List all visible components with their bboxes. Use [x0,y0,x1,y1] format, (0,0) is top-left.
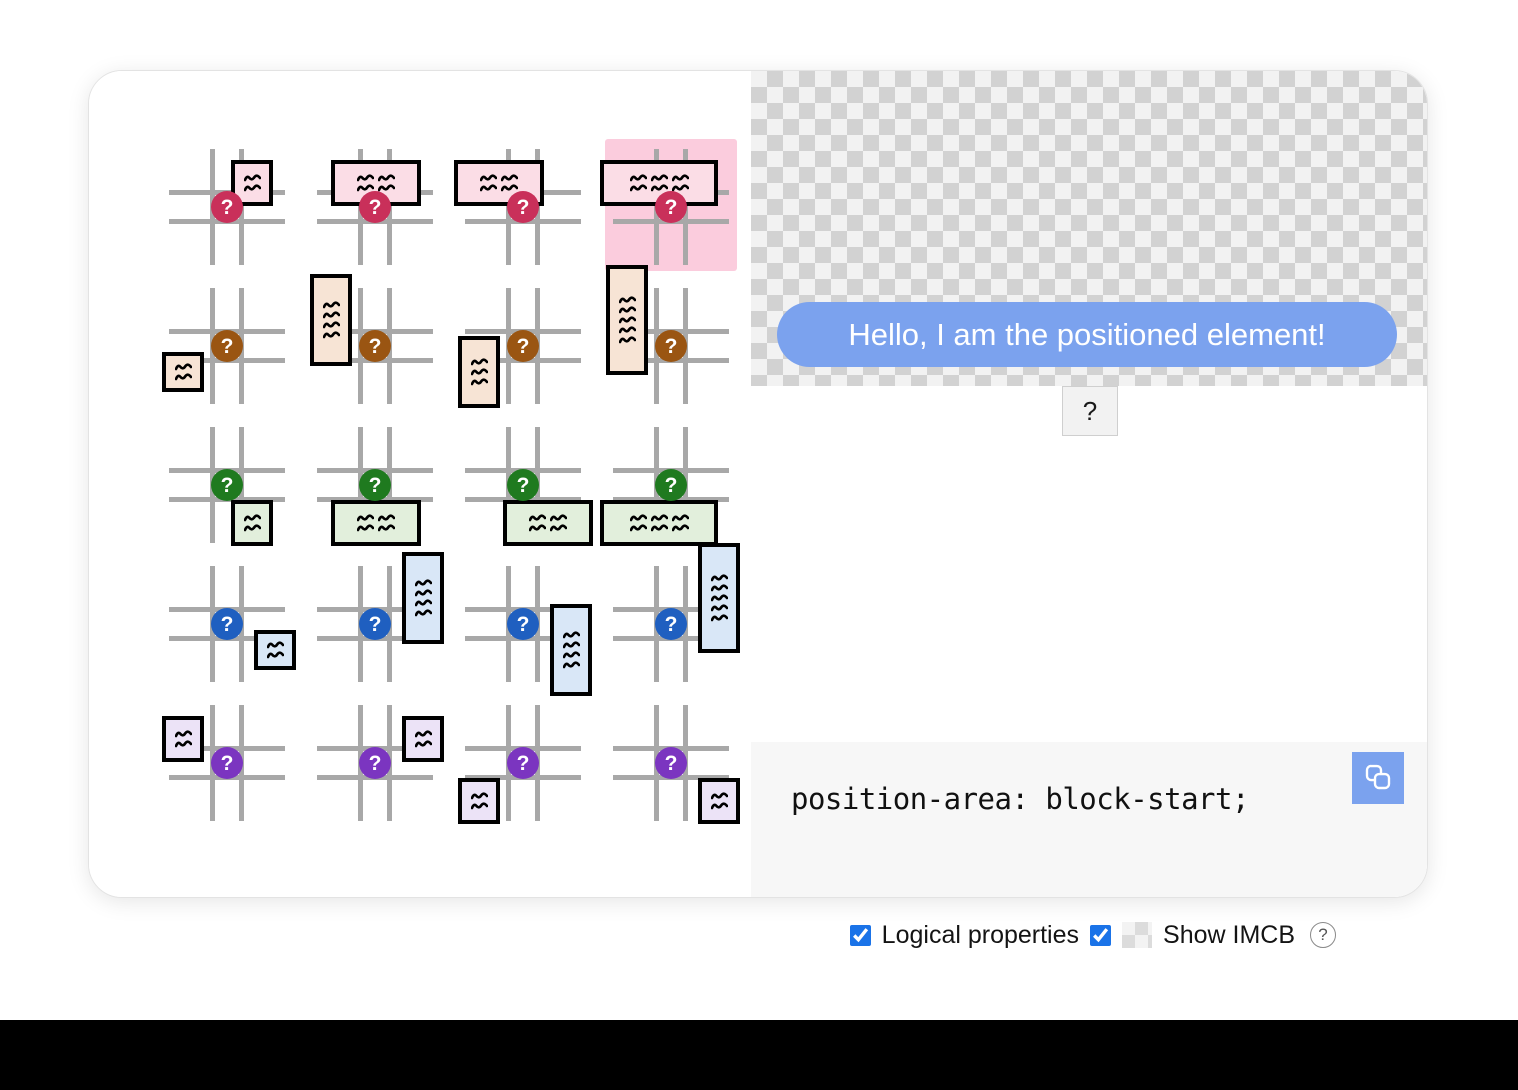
variant-cell-block-start-span-inline-start[interactable]: ? [457,139,589,271]
anchor-badge: ? [211,330,243,362]
positioned-box [503,500,593,546]
positioned-box [606,265,648,375]
squiggle-icon [415,609,432,618]
squiggle-row [630,514,689,523]
show-imcb-checkbox[interactable] [1090,925,1111,946]
squiggle-row [529,524,567,533]
squiggle-row [175,740,192,749]
squiggle-icon [415,589,432,598]
variant-cell-block-end-span-inline-start[interactable]: ? [457,417,589,549]
squiggle-row [480,184,518,193]
squiggle-icon [630,524,647,533]
squiggle-icon [378,514,395,523]
squiggle-row [471,792,488,801]
anchor-badge: ? [507,191,539,223]
variant-cell-block-start-span-all[interactable]: ? [309,139,441,271]
squiggle-row [711,614,728,623]
squiggle-row [175,363,192,372]
copy-button[interactable] [1352,752,1404,804]
squiggle-row [323,321,340,330]
variant-cell-block-end-span-all[interactable]: ? [309,417,441,549]
squiggle-icon [672,174,689,183]
squiggle-icon [471,792,488,801]
squiggle-icon [711,802,728,811]
squiggle-icon [630,184,647,193]
squiggle-icon [711,614,728,623]
positioned-box [600,500,718,546]
variant-cell-block-end-inline-start[interactable]: ? [457,695,589,827]
squiggle-icon [357,174,374,183]
squiggle-row [415,589,432,598]
variant-cell-inline-end[interactable]: ? [161,556,293,688]
anchor-badge: ? [507,608,539,640]
squiggle-row [630,184,689,193]
squiggle-icon [630,174,647,183]
squiggle-icon [529,514,546,523]
squiggle-icon [711,792,728,801]
help-icon[interactable]: ? [1310,922,1336,948]
squiggle-icon [529,524,546,533]
squiggle-icon [619,306,636,315]
positioned-box [162,716,204,762]
squiggle-icon [711,574,728,583]
page-bottom-strip [0,1020,1518,1090]
squiggle-icon [244,524,261,533]
footer-controls: Logical properties Show IMCB ? [0,922,1428,948]
anchor-badge: ? [211,608,243,640]
squiggle-row [529,514,567,523]
squiggle-icon [619,336,636,345]
squiggle-row [471,802,488,811]
squiggle-row [267,641,284,650]
anchor-badge: ? [507,469,539,501]
squiggle-row [244,524,261,533]
anchor-element[interactable]: ? [1062,386,1118,436]
squiggle-icon [175,363,192,372]
positioned-box [698,778,740,824]
positioned-box [458,778,500,824]
squiggle-icon [267,641,284,650]
squiggle-icon [711,594,728,603]
anchor-badge: ? [655,747,687,779]
logical-properties-label[interactable]: Logical properties [882,923,1079,948]
positioned-box [402,552,444,644]
variant-cell-block-start[interactable]: ? [161,139,293,271]
squiggle-icon [378,174,395,183]
squiggle-row [415,730,432,739]
squiggle-row [471,368,488,377]
squiggle-row [619,326,636,335]
squiggle-row [357,524,395,533]
variant-cell-block-start-span-inline-end[interactable]: ? [605,139,737,271]
anchor-badge: ? [507,747,539,779]
squiggle-icon [357,514,374,523]
squiggle-row [630,174,689,183]
squiggle-row [323,301,340,310]
squiggle-icon [501,184,518,193]
copy-icon [1363,762,1393,795]
positioned-box [231,500,273,546]
logical-properties-checkbox[interactable] [850,925,871,946]
squiggle-row [563,641,580,650]
squiggle-row [323,331,340,340]
squiggle-row [175,730,192,739]
variant-cell-inline-start-span-block-end[interactable]: ? [457,278,589,410]
anchor-badge: ? [655,608,687,640]
positioned-element: Hello, I am the positioned element! [777,302,1397,367]
anchor-badge: ? [211,469,243,501]
squiggle-icon [471,378,488,387]
squiggle-row [711,802,728,811]
squiggle-row [175,373,192,382]
squiggle-icon [175,730,192,739]
squiggle-icon [651,514,668,523]
squiggle-icon [630,514,647,523]
positioned-box [458,336,500,408]
anchor-badge: ? [655,469,687,501]
variant-grid: ???????????????????? [161,139,737,827]
squiggle-icon [563,651,580,660]
squiggle-row [415,579,432,588]
squiggle-row [619,296,636,305]
squiggle-icon [501,174,518,183]
squiggle-row [267,651,284,660]
positioned-box [698,543,740,653]
squiggle-row [711,574,728,583]
squiggle-icon [711,584,728,593]
squiggle-icon [323,321,340,330]
squiggle-icon [175,740,192,749]
squiggle-row [471,378,488,387]
squiggle-row [711,792,728,801]
code-snippet: position-area: block-start; [791,782,1249,816]
anchor-badge: ? [655,191,687,223]
checkerboard-swatch [1122,922,1152,948]
squiggle-icon [244,184,261,193]
variant-cell-inline-start-span-all[interactable]: ? [605,278,737,410]
squiggle-icon [619,316,636,325]
squiggle-icon [619,296,636,305]
squiggle-row [415,599,432,608]
squiggle-icon [244,514,261,523]
squiggle-icon [415,740,432,749]
squiggle-icon [357,524,374,533]
squiggle-icon [323,331,340,340]
squiggle-row [357,514,395,523]
squiggle-icon [563,631,580,640]
positioned-box [310,274,352,366]
variant-cell-inline-end-span-block-start[interactable]: ? [309,556,441,688]
squiggle-row [480,174,518,183]
squiggle-row [244,174,261,183]
positioned-box [550,604,592,696]
positioned-box [402,716,444,762]
squiggle-icon [480,184,497,193]
squiggle-icon [471,358,488,367]
squiggle-icon [672,514,689,523]
variant-cell-block-end-inline-end[interactable]: ? [605,695,737,827]
squiggle-row [711,584,728,593]
variant-cell-inline-start-span-block-start[interactable]: ? [309,278,441,410]
squiggle-row [415,609,432,618]
anchor-badge: ? [359,747,391,779]
squiggle-icon [415,730,432,739]
squiggle-row [244,184,261,193]
squiggle-icon [672,524,689,533]
squiggle-row [619,316,636,325]
anchor-badge: ? [211,191,243,223]
squiggle-row [244,514,261,523]
variant-cell-block-end-span-inline-end[interactable]: ? [605,417,737,549]
squiggle-icon [471,802,488,811]
squiggle-icon [471,368,488,377]
squiggle-icon [323,311,340,320]
anchor-badge: ? [359,608,391,640]
squiggle-icon [550,514,567,523]
anchor-badge: ? [211,747,243,779]
squiggle-icon [711,604,728,613]
squiggle-icon [651,524,668,533]
variant-cell-block-end[interactable]: ? [161,417,293,549]
anchor-badge: ? [655,330,687,362]
positioned-box [331,500,421,546]
variant-cell-inline-end-span-all[interactable]: ? [605,556,737,688]
squiggle-row [630,524,689,533]
squiggle-row [323,311,340,320]
positioned-box [162,352,204,392]
position-area-card: ???????????????????? Hello, I am the pos… [88,70,1428,898]
squiggle-row [415,740,432,749]
squiggle-icon [563,641,580,650]
anchor-badge: ? [507,330,539,362]
code-panel: position-area: block-start; [751,742,1428,897]
squiggle-row [711,594,728,603]
variant-cell-inline-start[interactable]: ? [161,278,293,410]
variant-cell-block-start-inline-start[interactable]: ? [161,695,293,827]
squiggle-icon [480,174,497,183]
positioned-box [254,630,296,670]
variant-grid-panel: ???????????????????? [89,71,751,897]
squiggle-row [619,336,636,345]
squiggle-icon [267,651,284,660]
squiggle-row [563,631,580,640]
squiggle-icon [323,301,340,310]
squiggle-icon [651,174,668,183]
squiggle-icon [563,661,580,670]
anchor-badge: ? [359,330,391,362]
squiggle-icon [550,524,567,533]
squiggle-row [357,174,395,183]
squiggle-icon [378,524,395,533]
variant-cell-block-start-inline-end[interactable]: ? [309,695,441,827]
squiggle-row [619,306,636,315]
squiggle-icon [619,326,636,335]
squiggle-icon [415,599,432,608]
variant-cell-inline-end-span-block-end[interactable]: ? [457,556,589,688]
anchor-badge: ? [359,191,391,223]
squiggle-row [563,651,580,660]
squiggle-icon [244,174,261,183]
squiggle-icon [415,579,432,588]
squiggle-icon [175,373,192,382]
squiggle-row [711,604,728,613]
show-imcb-label[interactable]: Show IMCB [1163,923,1295,948]
anchor-badge: ? [359,469,391,501]
squiggle-row [563,661,580,670]
preview-panel: Hello, I am the positioned element! ? po… [751,71,1428,897]
squiggle-row [471,358,488,367]
